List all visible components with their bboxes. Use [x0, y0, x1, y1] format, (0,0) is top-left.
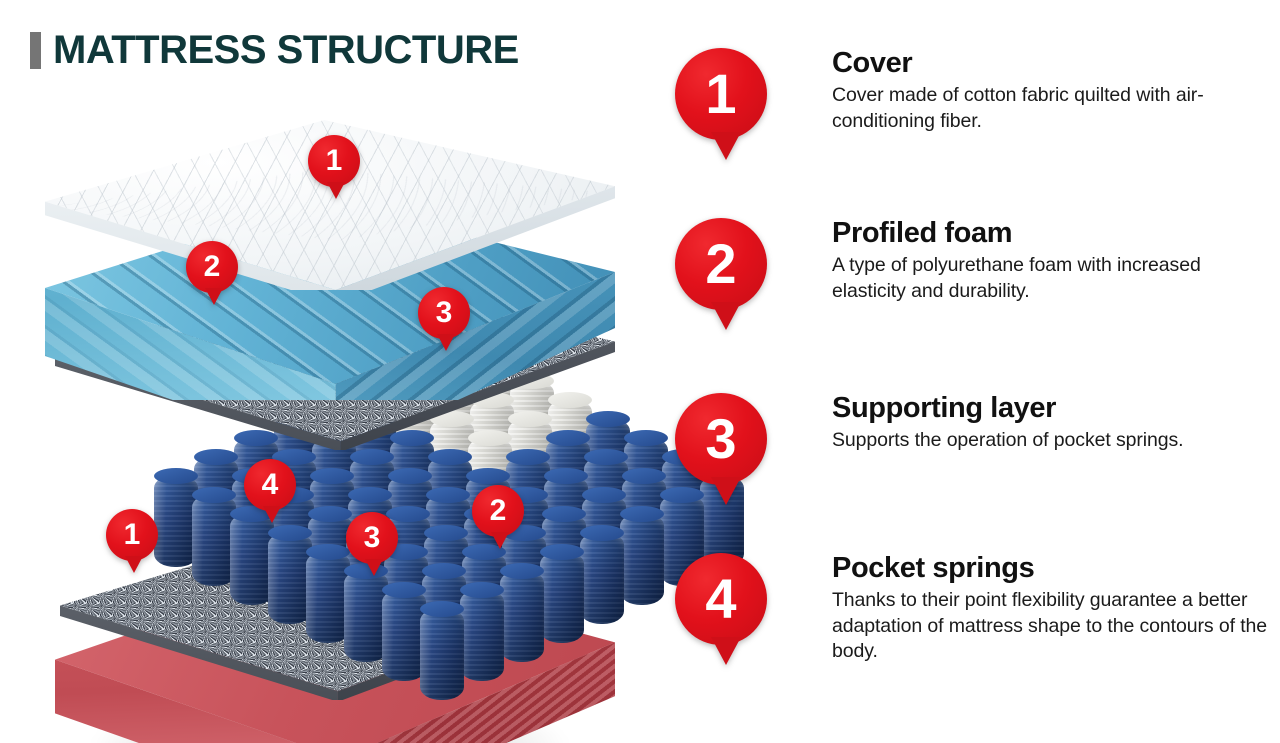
pocket-spring-cap: [420, 601, 464, 617]
pocket-spring-cap: [350, 449, 394, 465]
pocket-spring-cap: [192, 487, 236, 503]
pocket-spring-cap: [540, 544, 584, 560]
pocket-spring-blue: [620, 513, 664, 605]
pocket-spring-cap: [310, 468, 354, 484]
pocket-spring-cap: [426, 487, 470, 503]
legend-marker-4: 4: [675, 553, 767, 645]
legend-description-2: A type of polyurethane foam with increas…: [832, 253, 1272, 304]
mattress-exploded-diagram: 1 2 3 4 1 3 2: [0, 95, 660, 715]
pocket-spring-blue: [540, 551, 584, 643]
pocket-spring-cap: [506, 449, 550, 465]
pocket-spring-cap: [306, 544, 350, 560]
legend-marker-3: 3: [675, 393, 767, 485]
legend-item-profiled-foam[interactable]: 2 Profiled foam A type of polyurethane f…: [660, 210, 1280, 370]
diagram-marker-felt-upper[interactable]: 3: [418, 287, 470, 339]
diagram-marker-cover[interactable]: 1: [308, 135, 360, 187]
pocket-spring-cap: [582, 487, 626, 503]
diagram-marker-base-foam[interactable]: 1: [106, 509, 158, 561]
pocket-spring-blue: [420, 608, 464, 700]
legend-text-block-3: Supporting layer Supports the operation …: [832, 393, 1272, 454]
diagram-marker-pocket-springs[interactable]: 4: [244, 459, 296, 511]
pocket-spring-cap: [268, 525, 312, 541]
pocket-spring-cap: [386, 506, 430, 522]
page-title: MATTRESS STRUCTURE: [30, 30, 519, 70]
pocket-spring-cap: [388, 468, 432, 484]
pocket-spring-cap: [620, 506, 664, 522]
legend-title-1: Cover: [832, 48, 1272, 78]
pocket-spring-cap: [544, 468, 588, 484]
legend-item-supporting-layer[interactable]: 3 Supporting layer Supports the operatio…: [660, 385, 1280, 545]
pocket-spring-cap: [422, 563, 466, 579]
legend-item-pocket-springs[interactable]: 4 Pocket springs Thanks to their point f…: [660, 545, 1280, 705]
legend-title-4: Pocket springs: [832, 553, 1272, 583]
legend-text-block-1: Cover Cover made of cotton fabric quilte…: [832, 48, 1272, 134]
pocket-spring-cap: [424, 525, 468, 541]
legend-title-3: Supporting layer: [832, 393, 1272, 423]
pocket-spring-cap: [308, 506, 352, 522]
pocket-spring-cap: [154, 468, 198, 484]
pocket-spring-cap: [542, 506, 586, 522]
legend-item-cover[interactable]: 1 Cover Cover made of cotton fabric quil…: [660, 40, 1280, 200]
legend-text-block-2: Profiled foam A type of polyurethane foa…: [832, 218, 1272, 304]
title-label: MATTRESS STRUCTURE: [53, 30, 519, 70]
title-accent-bar: [30, 32, 41, 69]
pocket-spring-cap: [500, 563, 544, 579]
legend-text-block-4: Pocket springs Thanks to their point fle…: [832, 553, 1272, 664]
legend-description-3: Supports the operation of pocket springs…: [832, 428, 1272, 453]
pocket-spring-cap: [584, 449, 628, 465]
diagram-marker-springs-grey[interactable]: 2: [472, 485, 524, 537]
diagram-marker-profiled-foam[interactable]: 2: [186, 241, 238, 293]
pocket-spring-cap: [428, 449, 472, 465]
pocket-spring-cap: [194, 449, 238, 465]
legend-title-2: Profiled foam: [832, 218, 1272, 248]
pocket-spring-cap: [382, 582, 426, 598]
pocket-spring-cap: [466, 468, 510, 484]
pocket-spring-blue: [460, 589, 504, 681]
diagram-marker-felt-lower[interactable]: 3: [346, 512, 398, 564]
legend-marker-2: 2: [675, 218, 767, 310]
pocket-spring-cap: [460, 582, 504, 598]
pocket-spring-cap: [348, 487, 392, 503]
pocket-spring-blue: [500, 570, 544, 662]
legend-description-4: Thanks to their point flexibility guaran…: [832, 588, 1272, 664]
legend-marker-1: 1: [675, 48, 767, 140]
legend-description-1: Cover made of cotton fabric quilted with…: [832, 83, 1272, 134]
pocket-spring-cap: [580, 525, 624, 541]
infographic-page: MATTRESS STRUCTURE: [0, 0, 1280, 743]
pocket-spring-blue: [580, 532, 624, 624]
